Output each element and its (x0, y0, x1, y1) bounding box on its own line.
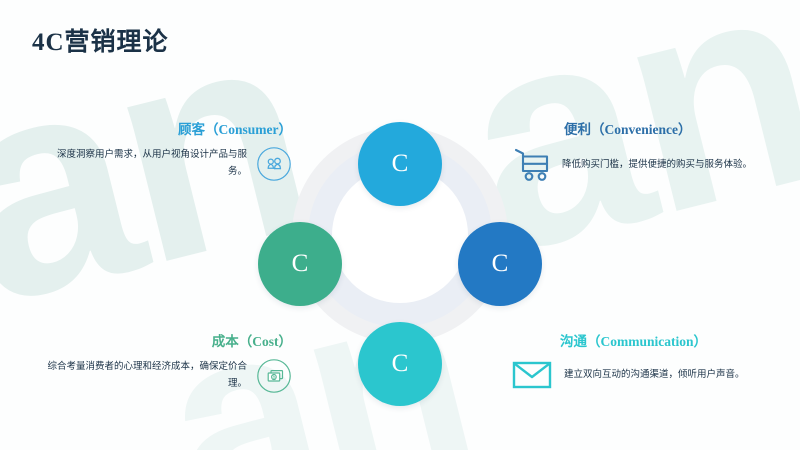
bubble-cost[interactable]: C (258, 222, 342, 306)
block-communication: 沟通（Communication） 建立双向互动的沟通渠道，倾听用户声音。 (512, 330, 787, 390)
block-convenience-desc: 降低购买门槛，提供便捷的购买与服务体验。 (562, 157, 752, 174)
banknotes-icon: $ (256, 358, 292, 394)
block-communication-desc: 建立双向互动的沟通渠道，倾听用户声音。 (564, 367, 745, 384)
page-title: 4C营销理论 (32, 22, 169, 58)
block-cost-heading: 成本（Cost） (22, 330, 292, 350)
bubble-letter: C (492, 250, 509, 278)
svg-text:$: $ (273, 375, 276, 381)
bubble-convenience[interactable]: C (458, 222, 542, 306)
bubble-letter: C (292, 250, 309, 278)
block-convenience: 便利（Convenience） 降低购买门槛，提供便捷的购买与服务体验。 (512, 118, 782, 184)
envelope-icon (512, 360, 552, 390)
block-cost: 成本（Cost） 综合考量消费者的心理和经济成本，确保定价合理。 $ (22, 330, 292, 394)
block-communication-heading: 沟通（Communication） (560, 330, 787, 350)
center-diagram: C C C C (270, 105, 530, 365)
block-cost-desc: 综合考量消费者的心理和经济成本，确保定价合理。 (37, 359, 247, 392)
slide-4c-marketing-theory: an an an 4C营销理论 C C C C 顾客（Consumer） 深度洞… (0, 0, 800, 450)
block-consumer-heading: 顾客（Consumer） (30, 118, 292, 138)
bubble-consumer[interactable]: C (358, 122, 442, 206)
bubble-letter: C (392, 350, 409, 378)
block-consumer-desc: 深度洞察用户需求，从用户视角设计产品与服务。 (49, 147, 247, 180)
block-consumer: 顾客（Consumer） 深度洞察用户需求，从用户视角设计产品与服务。 (30, 118, 292, 182)
bubble-letter: C (392, 150, 409, 178)
block-convenience-heading: 便利（Convenience） (564, 118, 782, 138)
two-people-icon (256, 146, 292, 182)
bubble-communication[interactable]: C (358, 322, 442, 406)
shopping-cart-icon (512, 146, 552, 184)
